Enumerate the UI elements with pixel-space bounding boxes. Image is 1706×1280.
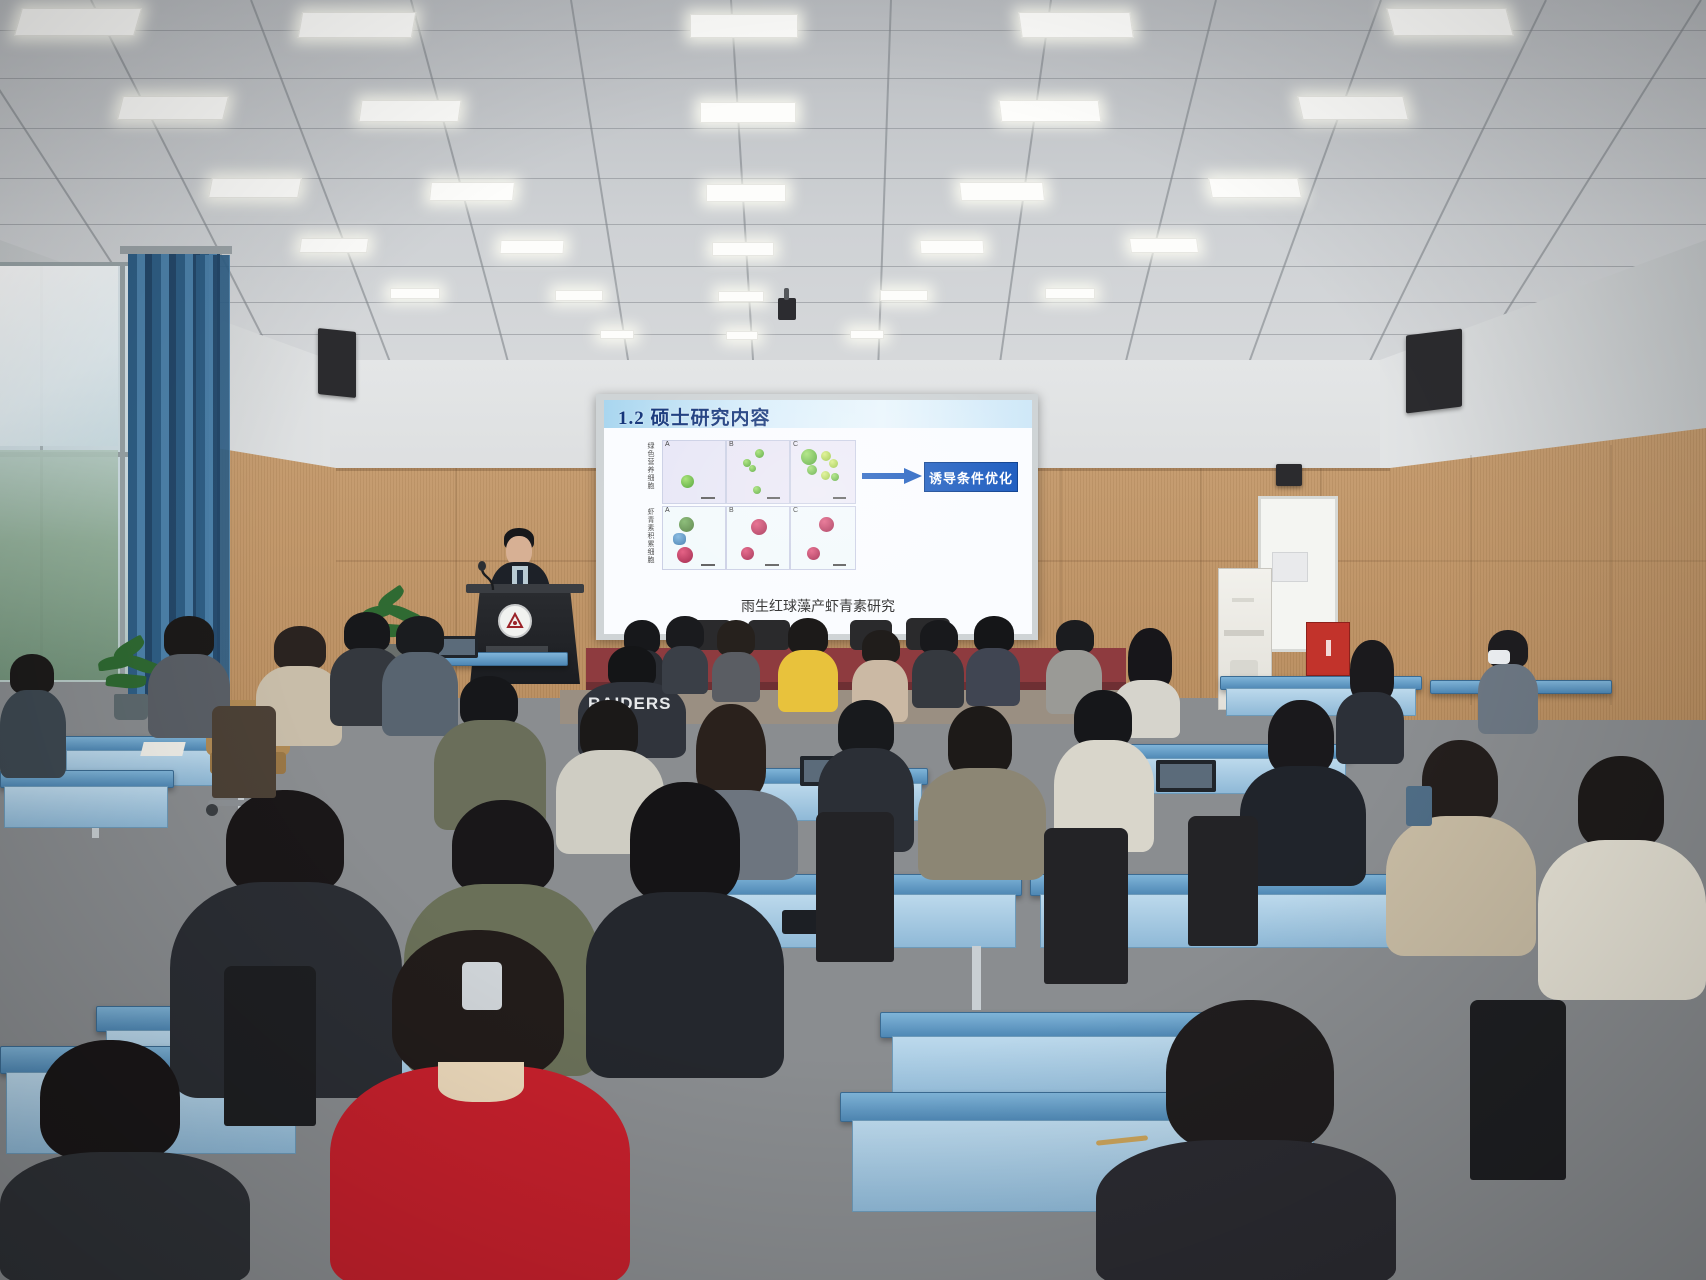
ceiling-light: [1386, 8, 1514, 36]
audience-member: [918, 706, 1046, 876]
ceiling-light: [390, 288, 440, 299]
hair-clip-icon: [462, 962, 502, 1010]
collar: [438, 1062, 524, 1102]
ceiling-light: [299, 238, 369, 253]
audience-member: [1054, 690, 1154, 850]
ceiling-light: [1208, 178, 1302, 198]
right-arrow-icon: [862, 468, 922, 484]
chair-back: [212, 706, 276, 798]
micrograph-panel-2a: A: [662, 506, 726, 570]
chair-back: [1188, 816, 1258, 946]
slide-callout-box: 诱导条件优化: [924, 462, 1018, 492]
wall-speaker-right-icon: [1406, 329, 1462, 414]
ceiling-light: [959, 182, 1045, 201]
ceiling-light: [14, 8, 142, 36]
gooseneck-microphone-icon: [478, 560, 496, 592]
wall-speaker-right-small-icon: [1276, 464, 1302, 486]
chair-back: [816, 812, 894, 962]
audience-member: [662, 616, 708, 690]
slide-caption: 雨生红球藻产虾青素研究: [604, 596, 1032, 616]
ceiling-light: [555, 290, 603, 301]
notebook: [140, 742, 185, 756]
ceiling-camera-icon: [778, 298, 796, 320]
ceiling-light: [500, 240, 565, 254]
ceiling-light: [706, 184, 786, 202]
micrograph-panel-2c: C: [790, 506, 856, 570]
whiteboard-note: [1272, 552, 1308, 582]
ceiling-light: [726, 331, 758, 340]
audience-member: [912, 620, 964, 706]
audience-member: [1538, 756, 1706, 996]
audience-member: [1240, 700, 1366, 880]
fire-cabinet-handle: [1326, 640, 1331, 656]
audience-member: [0, 1040, 250, 1280]
audience-member-phone-user: [1386, 740, 1536, 950]
held-phone[interactable]: [1406, 786, 1432, 826]
lectern: [470, 588, 580, 684]
ceiling-light: [712, 242, 774, 256]
panel-letter: B: [729, 507, 734, 514]
audience-member: [1096, 1000, 1396, 1280]
projection-screen: 1.2 硕士研究内容 绿色营养细胞 虾青素积累细胞 A B C: [604, 400, 1032, 634]
ceiling-light: [208, 178, 302, 198]
curtain-rail: [120, 246, 232, 254]
slide-row-label-1: 绿色营养细胞: [646, 442, 656, 500]
ceiling-light: [358, 100, 461, 122]
ceiling-light: [999, 100, 1102, 122]
lecture-room-photo: 1.2 硕士研究内容 绿色营养细胞 虾青素积累细胞 A B C: [0, 0, 1706, 1280]
micrograph-panel-1b: B: [726, 440, 790, 504]
audience-member: [1478, 630, 1538, 730]
ceiling-light: [920, 240, 985, 254]
panel-letter: B: [729, 441, 734, 448]
ceiling-light: [690, 14, 798, 38]
ceiling-light: [600, 330, 634, 339]
audience-member-red-sweater: [330, 930, 630, 1280]
ceiling-camera-mount: [784, 288, 789, 300]
panel-letter: A: [665, 441, 670, 448]
desk-laptop: [1156, 760, 1216, 792]
lectern-emblem-icon: [498, 604, 532, 638]
chair-back: [1044, 828, 1128, 984]
audience-member: [966, 616, 1020, 704]
desk-phone: [782, 910, 820, 934]
audience-member-yellow: [778, 618, 838, 710]
window-glare: [0, 266, 118, 446]
desk-row-c-left-panel: [4, 786, 168, 828]
panel-letter: C: [793, 441, 798, 448]
chair-back: [224, 966, 316, 1126]
slide-row-label-2: 虾青素积累细胞: [646, 508, 656, 576]
ceiling-light: [1129, 238, 1199, 253]
micrograph-panel-1a: A: [662, 440, 726, 504]
panel-letter: A: [665, 507, 670, 514]
slide-callout-label: 诱导条件优化: [929, 468, 1013, 487]
micrograph-panel-2b: B: [726, 506, 790, 570]
wall-speaker-left-icon: [318, 328, 356, 398]
panel-letter: C: [793, 507, 798, 514]
ceiling-light: [718, 291, 764, 302]
ceiling-light: [1018, 12, 1134, 38]
ceiling-light: [850, 330, 884, 339]
ceiling-light: [298, 12, 417, 38]
micrograph-panel-1c: C: [790, 440, 856, 504]
ceiling-light: [1297, 96, 1409, 120]
face-mask-icon: [1488, 650, 1510, 664]
chair-back: [1470, 1000, 1566, 1180]
right-wall-wood-panel: [1390, 420, 1706, 720]
audience-member: [712, 620, 760, 700]
ceiling-light: [700, 102, 796, 123]
ceiling-light: [1045, 288, 1095, 299]
ceiling-light: [880, 290, 928, 301]
audience-member: [0, 654, 66, 774]
ceiling-light: [429, 182, 515, 201]
ceiling-light: [117, 96, 229, 120]
slide-title: 1.2 硕士研究内容: [618, 403, 771, 430]
